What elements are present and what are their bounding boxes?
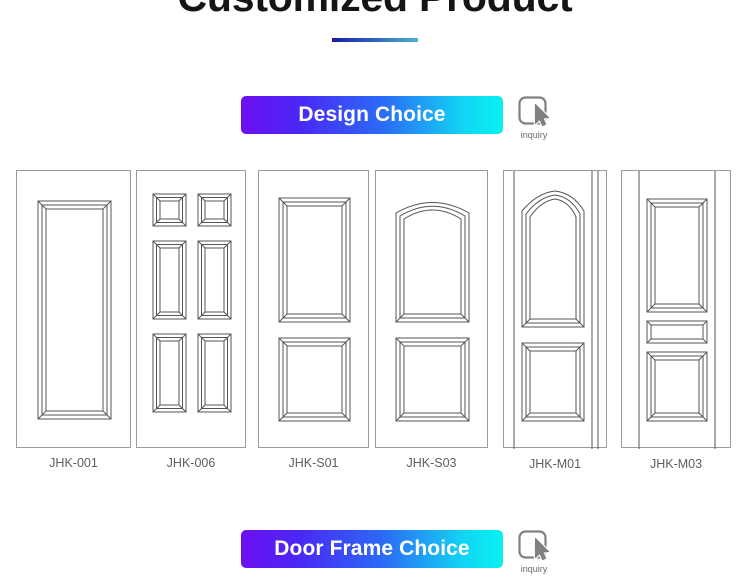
inquiry-label: inquiry — [521, 564, 548, 575]
door-drawing-jhk-006 — [137, 171, 247, 449]
door-preview — [621, 170, 731, 448]
door-frame-choice-section: Door Frame Choice inquiry — [0, 530, 750, 582]
door-design-grid: JHK-001 — [0, 0, 750, 320]
door-preview — [503, 170, 607, 448]
door-preview — [136, 170, 246, 448]
door-drawing-jhk-s01 — [259, 171, 370, 449]
door-preview — [16, 170, 131, 448]
door-label: JHK-M03 — [621, 457, 731, 471]
cursor-in-box-icon[interactable] — [518, 530, 551, 563]
door-frame-choice-inquiry[interactable]: inquiry — [514, 530, 554, 575]
door-label: JHK-006 — [136, 456, 246, 470]
door-label: JHK-001 — [16, 456, 131, 470]
door-preview — [258, 170, 369, 448]
door-drawing-jhk-001 — [17, 171, 132, 449]
door-frame-choice-button[interactable]: Door Frame Choice — [241, 530, 503, 568]
door-drawing-jhk-s03 — [376, 171, 489, 449]
door-drawing-jhk-m03 — [622, 171, 732, 449]
door-frame-choice-header: Door Frame Choice inquiry — [241, 530, 554, 575]
door-drawing-jhk-m01 — [504, 171, 608, 449]
door-preview — [375, 170, 488, 448]
door-label: JHK-S03 — [375, 456, 488, 470]
door-label: JHK-M01 — [503, 457, 607, 471]
door-label: JHK-S01 — [258, 456, 369, 470]
